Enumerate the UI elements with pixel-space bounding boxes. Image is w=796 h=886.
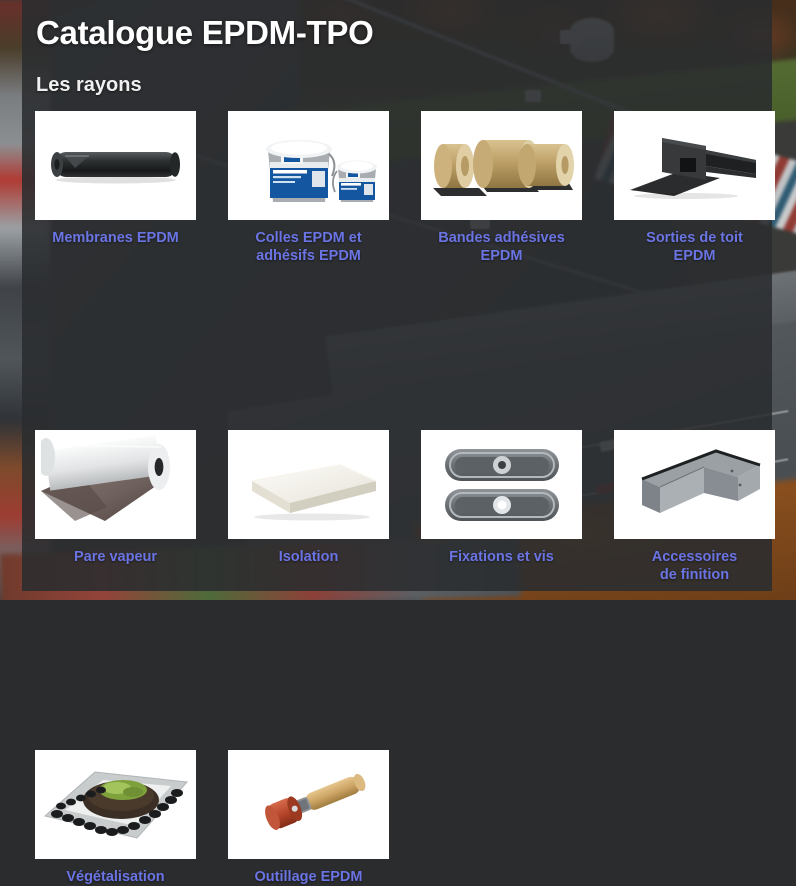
category-label-line-2: de finition [660, 567, 729, 583]
category-label-line-2: EPDM [481, 248, 523, 264]
category-label-line-1: Colles EPDM et [255, 230, 361, 246]
category-card-bandes-adhesives-epdm[interactable]: Bandes adhésives EPDM [421, 111, 582, 265]
category-label-line-2: EPDM [674, 248, 716, 264]
category-card-sorties-de-toit-epdm[interactable]: Sorties de toit EPDM [614, 111, 775, 265]
category-card-isolation[interactable]: Isolation [228, 430, 389, 584]
category-row: Pare vapeur [35, 430, 760, 584]
category-card-pare-vapeur[interactable]: Pare vapeur [35, 430, 196, 584]
category-thumbnail[interactable] [228, 750, 389, 859]
category-thumbnail[interactable] [35, 111, 196, 220]
insulation-board-icon [234, 435, 384, 535]
category-label: Bandes adhésives EPDM [421, 229, 582, 265]
category-thumbnail[interactable] [35, 750, 196, 859]
fixings-and-screws-icon [427, 435, 577, 535]
adhesive-tape-rolls-icon [427, 116, 577, 216]
seam-roller-tool-icon [234, 754, 384, 854]
category-label: Sorties de toit EPDM [614, 229, 775, 265]
category-label: Colles EPDM et adhésifs EPDM [228, 229, 389, 265]
category-card-vegetalisation[interactable]: Végétalisation [35, 750, 196, 886]
category-label: Fixations et vis [421, 548, 582, 566]
category-label: Pare vapeur [35, 548, 196, 566]
category-label-line-1: Accessoires [652, 549, 737, 565]
category-thumbnail[interactable] [228, 111, 389, 220]
category-label: Accessoires de finition [614, 548, 775, 584]
vapour-barrier-roll-icon [41, 435, 191, 535]
page-title: Catalogue EPDM-TPO [36, 14, 373, 52]
roof-outlet-icon [620, 116, 770, 216]
category-thumbnail[interactable] [421, 111, 582, 220]
finishing-profile-icon [620, 435, 770, 535]
section-title: Les rayons [36, 74, 142, 97]
category-row: Végétalisation [35, 750, 760, 886]
epdm-membrane-roll-icon [41, 116, 191, 216]
category-thumbnail[interactable] [228, 430, 389, 539]
category-label-line-1: Sorties de toit [646, 230, 743, 246]
green-roof-tray-icon [41, 754, 191, 854]
category-card-outillage-epdm[interactable]: Outillage EPDM [228, 750, 389, 886]
category-grid: Membranes EPDM [35, 111, 760, 886]
category-label-line-2: adhésifs EPDM [256, 248, 361, 264]
category-card-colles-epdm[interactable]: Colles EPDM et adhésifs EPDM [228, 111, 389, 265]
category-label: Végétalisation [35, 868, 196, 886]
category-card-fixations-et-vis[interactable]: Fixations et vis [421, 430, 582, 584]
category-card-accessoires-de-finition[interactable]: Accessoires de finition [614, 430, 775, 584]
category-thumbnail[interactable] [421, 430, 582, 539]
category-label: Outillage EPDM [228, 868, 389, 886]
category-label: Isolation [228, 548, 389, 566]
category-thumbnail[interactable] [614, 430, 775, 539]
category-thumbnail[interactable] [614, 111, 775, 220]
category-row: Membranes EPDM [35, 111, 760, 265]
category-label: Membranes EPDM [35, 229, 196, 247]
category-label-line-1: Bandes adhésives [438, 230, 565, 246]
category-card-membranes-epdm[interactable]: Membranes EPDM [35, 111, 196, 265]
adhesive-buckets-icon [234, 116, 384, 216]
category-thumbnail[interactable] [35, 430, 196, 539]
